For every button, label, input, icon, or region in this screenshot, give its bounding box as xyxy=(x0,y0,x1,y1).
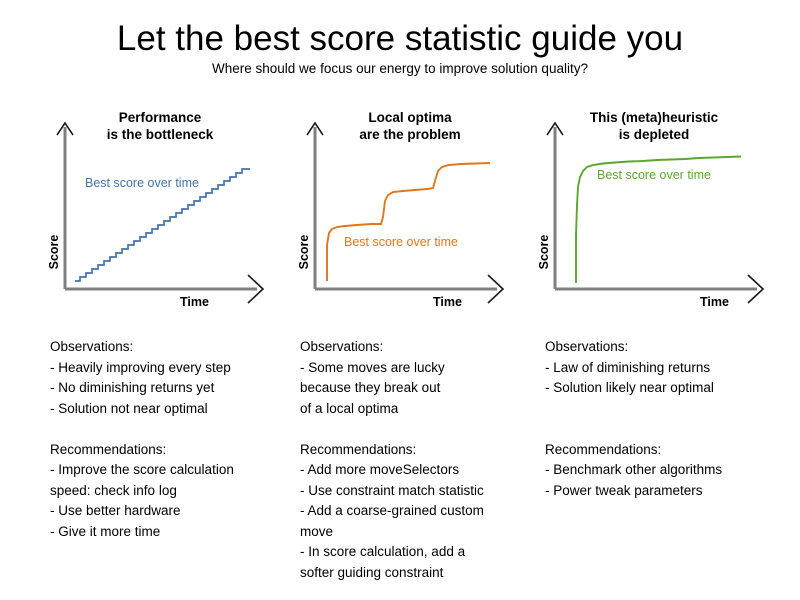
series-line-best-score xyxy=(327,163,490,281)
observations-heading: Observations: xyxy=(300,337,525,358)
x-axis-label: Time xyxy=(180,295,209,309)
series-label-best-score: Best score over time xyxy=(85,176,199,190)
recommendation-item-cont: speed: check info log xyxy=(50,481,285,502)
chart-canvas-performance xyxy=(35,105,285,325)
recommendation-item: - Use constraint match statistic xyxy=(300,481,525,502)
recommendations-heading: Recommendations: xyxy=(50,440,285,461)
spacer xyxy=(50,419,285,440)
page-subtitle: Where should we focus our energy to impr… xyxy=(0,61,800,76)
chart-canvas-depleted xyxy=(525,105,775,325)
observation-item: - Solution not near optimal xyxy=(50,399,285,420)
observation-item-cont: of a local optima xyxy=(300,399,525,420)
recommendation-item: - Add more moveSelectors xyxy=(300,460,525,481)
recommendation-item: - Improve the score calculation xyxy=(50,460,285,481)
recommendations-heading: Recommendations: xyxy=(300,440,525,461)
observation-item-cont: because they break out xyxy=(300,378,525,399)
notes-column-depleted: Observations: - Law of diminishing retur… xyxy=(545,337,785,501)
spacer xyxy=(300,419,525,440)
recommendation-item: - Benchmark other algorithms xyxy=(545,460,785,481)
y-axis-label: Score xyxy=(297,217,311,287)
observations-heading: Observations: xyxy=(545,337,785,358)
x-axis-label: Time xyxy=(433,295,462,309)
chart-panel-performance: Performance is the bottleneck Score Time… xyxy=(35,105,285,325)
series-label-best-score: Best score over time xyxy=(597,168,711,182)
page-title: Let the best score statistic guide you xyxy=(0,18,800,60)
chart-panel-depleted: This (meta)heuristic is depleted Score T… xyxy=(525,105,775,325)
notes-column-performance: Observations: - Heavily improving every … xyxy=(50,337,285,542)
chart-panel-local-optima: Local optima are the problem Score Time … xyxy=(285,105,535,325)
observations-heading: Observations: xyxy=(50,337,285,358)
spacer xyxy=(545,399,785,420)
recommendation-item-cont: softer guiding constraint xyxy=(300,563,525,584)
recommendation-item-cont: move xyxy=(300,522,525,543)
recommendation-item: - In score calculation, add a xyxy=(300,542,525,563)
observation-item: - Some moves are lucky xyxy=(300,358,525,379)
y-axis-label: Score xyxy=(537,217,551,287)
chart-canvas-local-optima xyxy=(285,105,535,325)
observation-item: - Law of diminishing returns xyxy=(545,358,785,379)
observation-item: - No diminishing returns yet xyxy=(50,378,285,399)
observation-item: - Heavily improving every step xyxy=(50,358,285,379)
spacer xyxy=(545,419,785,440)
recommendation-item: - Use better hardware xyxy=(50,501,285,522)
recommendations-heading: Recommendations: xyxy=(545,440,785,461)
observation-item: - Solution likely near optimal xyxy=(545,378,785,399)
series-label-best-score: Best score over time xyxy=(344,235,458,249)
recommendation-item: - Power tweak parameters xyxy=(545,481,785,502)
recommendation-item: - Give it more time xyxy=(50,522,285,543)
y-axis-label: Score xyxy=(47,217,61,287)
notes-column-local-optima: Observations: - Some moves are lucky bec… xyxy=(300,337,525,583)
x-axis-label: Time xyxy=(700,295,729,309)
recommendation-item: - Add a coarse-grained custom xyxy=(300,501,525,522)
